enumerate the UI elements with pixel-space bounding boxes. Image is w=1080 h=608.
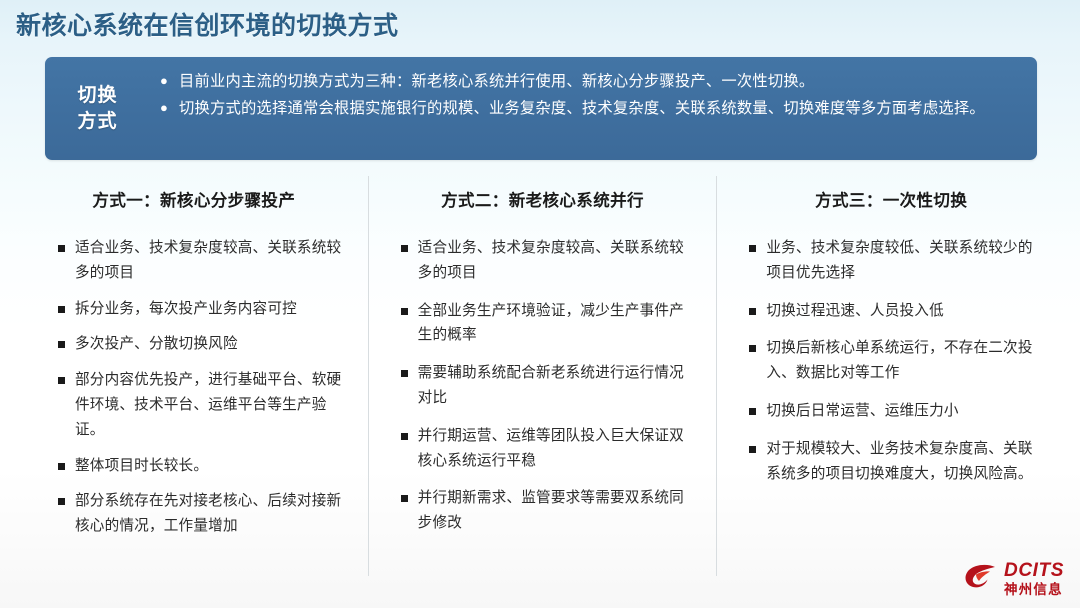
- column-bullet-list: 适合业务、技术复杂度较高、关联系统较多的项目 拆分业务，每次投产业务内容可控 多…: [38, 236, 350, 539]
- list-item-text: 并行期运营、运维等团队投入巨大保证双核心系统运行平稳: [418, 424, 699, 474]
- list-item: 需要辅助系统配合新老系统进行运行情况对比: [401, 361, 699, 411]
- square-bullet-icon: [749, 345, 756, 352]
- square-bullet-icon: [401, 370, 408, 377]
- column-approach-three: 方式三：一次性切换 业务、技术复杂度较低、关联系统较少的项目优先选择 切换过程迅…: [716, 176, 1065, 576]
- list-item: 拆分业务，每次投产业务内容可控: [58, 297, 350, 322]
- list-item-text: 多次投产、分散切换风险: [75, 332, 350, 357]
- column-bullet-list: 业务、技术复杂度较低、关联系统较少的项目优先选择 切换过程迅速、人员投入低 切换…: [735, 236, 1047, 486]
- square-bullet-icon: [401, 245, 408, 252]
- list-item: 切换后新核心单系统运行，不存在二次投入、数据比对等工作: [749, 336, 1047, 386]
- column-approach-two: 方式二：新老核心系统并行 适合业务、技术复杂度较高、关联系统较多的项目 全部业务…: [368, 176, 717, 576]
- square-bullet-icon: [749, 245, 756, 252]
- summary-banner: 切换 方式 ● 目前业内主流的切换方式为三种：新老核心系统并行使用、新核心分步骤…: [45, 57, 1037, 160]
- list-item-text: 全部业务生产环境验证，减少生产事件产生的概率: [418, 299, 699, 349]
- list-item: 并行期运营、运维等团队投入巨大保证双核心系统运行平稳: [401, 424, 699, 474]
- list-item: 整体项目时长较长。: [58, 454, 350, 479]
- list-item: 并行期新需求、监管要求等需要双系统同步修改: [401, 486, 699, 536]
- banner-bullet-item: ● 目前业内主流的切换方式为三种：新老核心系统并行使用、新核心分步骤投产、一次性…: [160, 70, 1015, 95]
- list-item-text: 切换后日常运营、运维压力小: [766, 399, 1047, 424]
- banner-bullet-text: 目前业内主流的切换方式为三种：新老核心系统并行使用、新核心分步骤投产、一次性切换…: [179, 70, 1015, 95]
- list-item-text: 需要辅助系统配合新老系统进行运行情况对比: [418, 361, 699, 411]
- list-item: 部分系统存在先对接老核心、后续对接新核心的情况，工作量增加: [58, 489, 350, 539]
- column-heading: 方式二：新老核心系统并行: [387, 176, 699, 217]
- list-item: 业务、技术复杂度较低、关联系统较少的项目优先选择: [749, 236, 1047, 286]
- column-heading: 方式三：一次性切换: [735, 176, 1047, 217]
- square-bullet-icon: [401, 308, 408, 315]
- banner-label: 切换 方式: [45, 57, 150, 160]
- square-bullet-icon: [58, 341, 65, 348]
- list-item-text: 切换后新核心单系统运行，不存在二次投入、数据比对等工作: [766, 336, 1047, 386]
- square-bullet-icon: [749, 308, 756, 315]
- square-bullet-icon: [58, 306, 65, 313]
- list-item: 切换过程迅速、人员投入低: [749, 299, 1047, 324]
- list-item-text: 部分内容优先投产，进行基础平台、软硬件环境、技术平台、运维平台等生产验证。: [75, 368, 350, 442]
- column-heading: 方式一：新核心分步骤投产: [38, 176, 350, 217]
- list-item: 切换后日常运营、运维压力小: [749, 399, 1047, 424]
- list-item-text: 切换过程迅速、人员投入低: [766, 299, 1047, 324]
- banner-label-line1: 切换: [77, 83, 117, 108]
- square-bullet-icon: [749, 446, 756, 453]
- list-item: 多次投产、分散切换风险: [58, 332, 350, 357]
- list-item-text: 部分系统存在先对接老核心、后续对接新核心的情况，工作量增加: [75, 489, 350, 539]
- list-item: 适合业务、技术复杂度较高、关联系统较多的项目: [401, 236, 699, 286]
- bullet-dot-icon: ●: [160, 97, 174, 119]
- list-item-text: 拆分业务，每次投产业务内容可控: [75, 297, 350, 322]
- list-item-text: 对于规模较大、业务技术复杂度高、关联系统多的项目切换难度大，切换风险高。: [766, 437, 1047, 487]
- comparison-columns: 方式一：新核心分步骤投产 适合业务、技术复杂度较高、关联系统较多的项目 拆分业务…: [20, 176, 1065, 576]
- list-item: 部分内容优先投产，进行基础平台、软硬件环境、技术平台、运维平台等生产验证。: [58, 368, 350, 442]
- list-item: 全部业务生产环境验证，减少生产事件产生的概率: [401, 299, 699, 349]
- square-bullet-icon: [58, 245, 65, 252]
- company-logo: DCITS 神州信息: [964, 561, 1064, 597]
- column-bullet-list: 适合业务、技术复杂度较高、关联系统较多的项目 全部业务生产环境验证，减少生产事件…: [387, 236, 699, 536]
- list-item-text: 业务、技术复杂度较低、关联系统较少的项目优先选择: [766, 236, 1047, 286]
- square-bullet-icon: [401, 495, 408, 502]
- banner-label-line2: 方式: [77, 109, 117, 134]
- dcits-swoosh-icon: [964, 563, 998, 593]
- logo-wordmark: DCITS 神州信息: [1004, 561, 1064, 597]
- logo-text-en: DCITS: [1004, 561, 1064, 580]
- banner-bullet-text: 切换方式的选择通常会根据实施银行的规模、业务复杂度、技术复杂度、关联系统数量、切…: [179, 97, 1015, 122]
- column-approach-one: 方式一：新核心分步骤投产 适合业务、技术复杂度较高、关联系统较多的项目 拆分业务…: [20, 176, 368, 576]
- square-bullet-icon: [749, 408, 756, 415]
- list-item-text: 适合业务、技术复杂度较高、关联系统较多的项目: [418, 236, 699, 286]
- square-bullet-icon: [58, 498, 65, 505]
- list-item: 适合业务、技术复杂度较高、关联系统较多的项目: [58, 236, 350, 286]
- banner-bullet-item: ● 切换方式的选择通常会根据实施银行的规模、业务复杂度、技术复杂度、关联系统数量…: [160, 97, 1015, 122]
- square-bullet-icon: [58, 377, 65, 384]
- square-bullet-icon: [58, 463, 65, 470]
- banner-bullet-list: ● 目前业内主流的切换方式为三种：新老核心系统并行使用、新核心分步骤投产、一次性…: [150, 57, 1037, 160]
- list-item-text: 适合业务、技术复杂度较高、关联系统较多的项目: [75, 236, 350, 286]
- list-item-text: 整体项目时长较长。: [75, 454, 350, 479]
- list-item: 对于规模较大、业务技术复杂度高、关联系统多的项目切换难度大，切换风险高。: [749, 437, 1047, 487]
- logo-text-cn: 神州信息: [1004, 583, 1064, 597]
- slide-canvas: 新核心系统在信创环境的切换方式 切换 方式 ● 目前业内主流的切换方式为三种：新…: [0, 0, 1080, 608]
- list-item-text: 并行期新需求、监管要求等需要双系统同步修改: [418, 486, 699, 536]
- bullet-dot-icon: ●: [160, 70, 174, 92]
- square-bullet-icon: [401, 433, 408, 440]
- page-title: 新核心系统在信创环境的切换方式: [16, 6, 399, 42]
